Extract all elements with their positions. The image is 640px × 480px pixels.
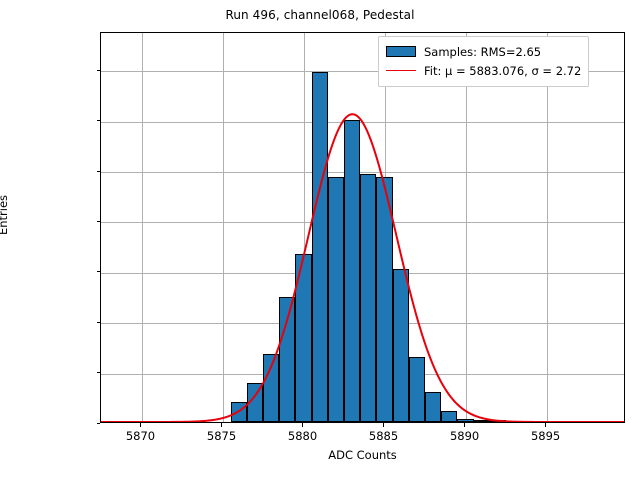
histogram-bar [376,177,392,422]
histogram-bar [279,297,295,422]
y-tick-mark-2 [97,322,101,323]
plot-area [100,32,625,423]
x-tick-label-1: 5875 [207,429,236,443]
histogram-bar [295,254,311,422]
x-tick-mark-5 [545,423,546,427]
histogram-bar [263,354,279,422]
x-tick-mark-0 [140,423,141,427]
legend-line-swatch-icon [386,70,416,71]
histogram-bar [425,392,441,422]
histogram-bar [247,383,263,422]
y-tick-mark-3 [97,271,101,272]
y-tick-mark-7 [97,70,101,71]
gridline-x-5 [547,33,548,422]
x-tick-label-5: 5895 [531,429,560,443]
y-tick-mark-6 [97,120,101,121]
x-axis-label: ADC Counts [100,448,625,462]
histogram-bar [393,269,409,422]
y-tick-mark-4 [97,221,101,222]
histogram-bar [231,402,247,422]
legend-label-samples: Samples: RMS=2.65 [424,45,541,59]
y-tick-mark-1 [97,372,101,373]
x-tick-mark-4 [464,423,465,427]
legend-label-fit: Fit: μ = 5883.076, σ = 2.72 [424,64,581,78]
histogram-bar [312,72,328,422]
histogram-bar [457,419,473,422]
x-tick-mark-2 [302,423,303,427]
gridline-x-0 [142,33,143,422]
x-tick-label-2: 5880 [288,429,317,443]
x-tick-label-3: 5885 [369,429,398,443]
legend: Samples: RMS=2.65 Fit: μ = 5883.076, σ =… [378,36,589,87]
y-tick-mark-5 [97,171,101,172]
histogram-bar [490,420,506,422]
y-axis-label: Entries [0,195,10,235]
x-tick-mark-3 [383,423,384,427]
histogram-bar [344,120,360,422]
histogram-bar [328,177,344,422]
x-tick-mark-1 [221,423,222,427]
x-tick-label-0: 5870 [126,429,155,443]
page-title: Run 496, channel068, Pedestal [0,8,640,22]
gridline-x-4 [466,33,467,422]
gridline-y-6 [101,122,624,123]
histogram-bar [441,411,457,422]
legend-item-fit: Fit: μ = 5883.076, σ = 2.72 [386,61,581,80]
y-tick-mark-0 [97,423,101,424]
x-tick-label-4: 5890 [450,429,479,443]
histogram-bar [409,357,425,423]
histogram-bar [474,420,490,422]
legend-item-samples: Samples: RMS=2.65 [386,42,581,61]
gridline-x-1 [223,33,224,422]
gridline-y-5 [101,172,624,173]
histogram-bar [360,174,376,422]
matplotlib-figure: Run 496, channel068, Pedestal 0250005000… [0,0,640,480]
legend-patch-swatch-icon [386,46,416,57]
